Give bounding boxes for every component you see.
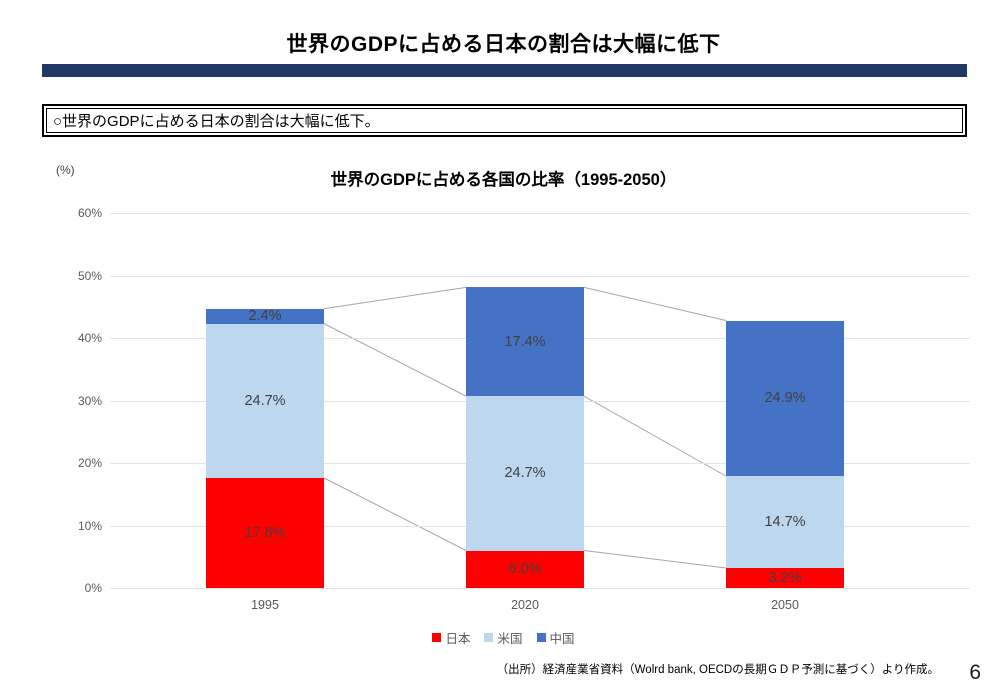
bar-segment-label: 14.7%: [764, 514, 805, 530]
summary-box: ○世界のGDPに占める日本の割合は大幅に低下。: [42, 104, 967, 137]
page-number: 6: [969, 661, 981, 685]
bar-segment-中国: 2.4%: [206, 309, 324, 324]
bar-segment-日本: 3.2%: [726, 568, 844, 588]
title-rule: [42, 64, 967, 77]
bar-segment-label: 2.4%: [248, 308, 281, 324]
plot-area: 17.6%24.7%2.4%6.0%24.7%17.4%3.2%14.7%24.…: [110, 213, 970, 588]
connector-line: [324, 324, 466, 397]
x-axis-tick-label: 2050: [771, 598, 799, 612]
connector-line: [324, 287, 466, 308]
bar-group-2020: 6.0%24.7%17.4%: [466, 213, 584, 588]
bar-segment-label: 24.7%: [244, 393, 285, 409]
legend-swatch-icon: [484, 633, 493, 642]
bar-group-1995: 17.6%24.7%2.4%: [206, 213, 324, 588]
y-axis-tick-label: 10%: [48, 519, 102, 533]
bar-segment-米国: 14.7%: [726, 476, 844, 568]
x-axis-tick-label: 1995: [251, 598, 279, 612]
bar-segment-中国: 24.9%: [726, 321, 844, 477]
chart: (%) 世界のGDPに占める各国の比率（1995-2050） 17.6%24.7…: [0, 150, 1007, 655]
bar-segment-米国: 24.7%: [466, 396, 584, 550]
connector-line: [324, 478, 466, 551]
connector-line: [584, 396, 726, 476]
summary-text: ○世界のGDPに占める日本の割合は大幅に低下。: [53, 110, 380, 131]
bar-segment-label: 17.6%: [244, 525, 285, 541]
connector-line: [584, 287, 726, 320]
bar-segment-米国: 24.7%: [206, 324, 324, 478]
bar-segment-中国: 17.4%: [466, 287, 584, 396]
slide-title: 世界のGDPに占める日本の割合は大幅に低下: [0, 28, 1007, 58]
y-axis-tick-label: 50%: [48, 269, 102, 283]
bar-segment-label: 17.4%: [504, 334, 545, 350]
bar-segment-label: 24.7%: [504, 465, 545, 481]
legend-item-米国[interactable]: 米国: [484, 628, 522, 647]
legend-item-中国[interactable]: 中国: [537, 628, 575, 647]
bar-segment-label: 3.2%: [768, 570, 801, 586]
y-axis-tick-label: 30%: [48, 394, 102, 408]
y-axis-tick-label: 60%: [48, 206, 102, 220]
legend-swatch-icon: [432, 633, 441, 642]
bar-segment-日本: 6.0%: [466, 551, 584, 589]
connector-line: [584, 551, 726, 569]
legend-label: 米国: [497, 628, 522, 647]
chart-legend: 日本米国中国: [0, 628, 1007, 647]
chart-title: 世界のGDPに占める各国の比率（1995-2050）: [0, 166, 1007, 190]
legend-label: 日本: [445, 628, 470, 647]
bar-segment-日本: 17.6%: [206, 478, 324, 588]
legend-swatch-icon: [537, 633, 546, 642]
bar-segment-label: 6.0%: [508, 561, 541, 577]
legend-label: 中国: [550, 628, 575, 647]
x-axis-tick-label: 2020: [511, 598, 539, 612]
y-axis-tick-label: 40%: [48, 331, 102, 345]
legend-item-日本[interactable]: 日本: [432, 628, 470, 647]
bar-group-2050: 3.2%14.7%24.9%: [726, 213, 844, 588]
source-note: （出所）経済産業省資料（Wolrd bank, OECDの長期ＧＤＰ予測に基づく…: [497, 661, 939, 677]
y-axis-tick-label: 20%: [48, 456, 102, 470]
y-axis-tick-label: 0%: [48, 581, 102, 595]
bar-segment-label: 24.9%: [764, 390, 805, 406]
gridline: [110, 588, 970, 589]
